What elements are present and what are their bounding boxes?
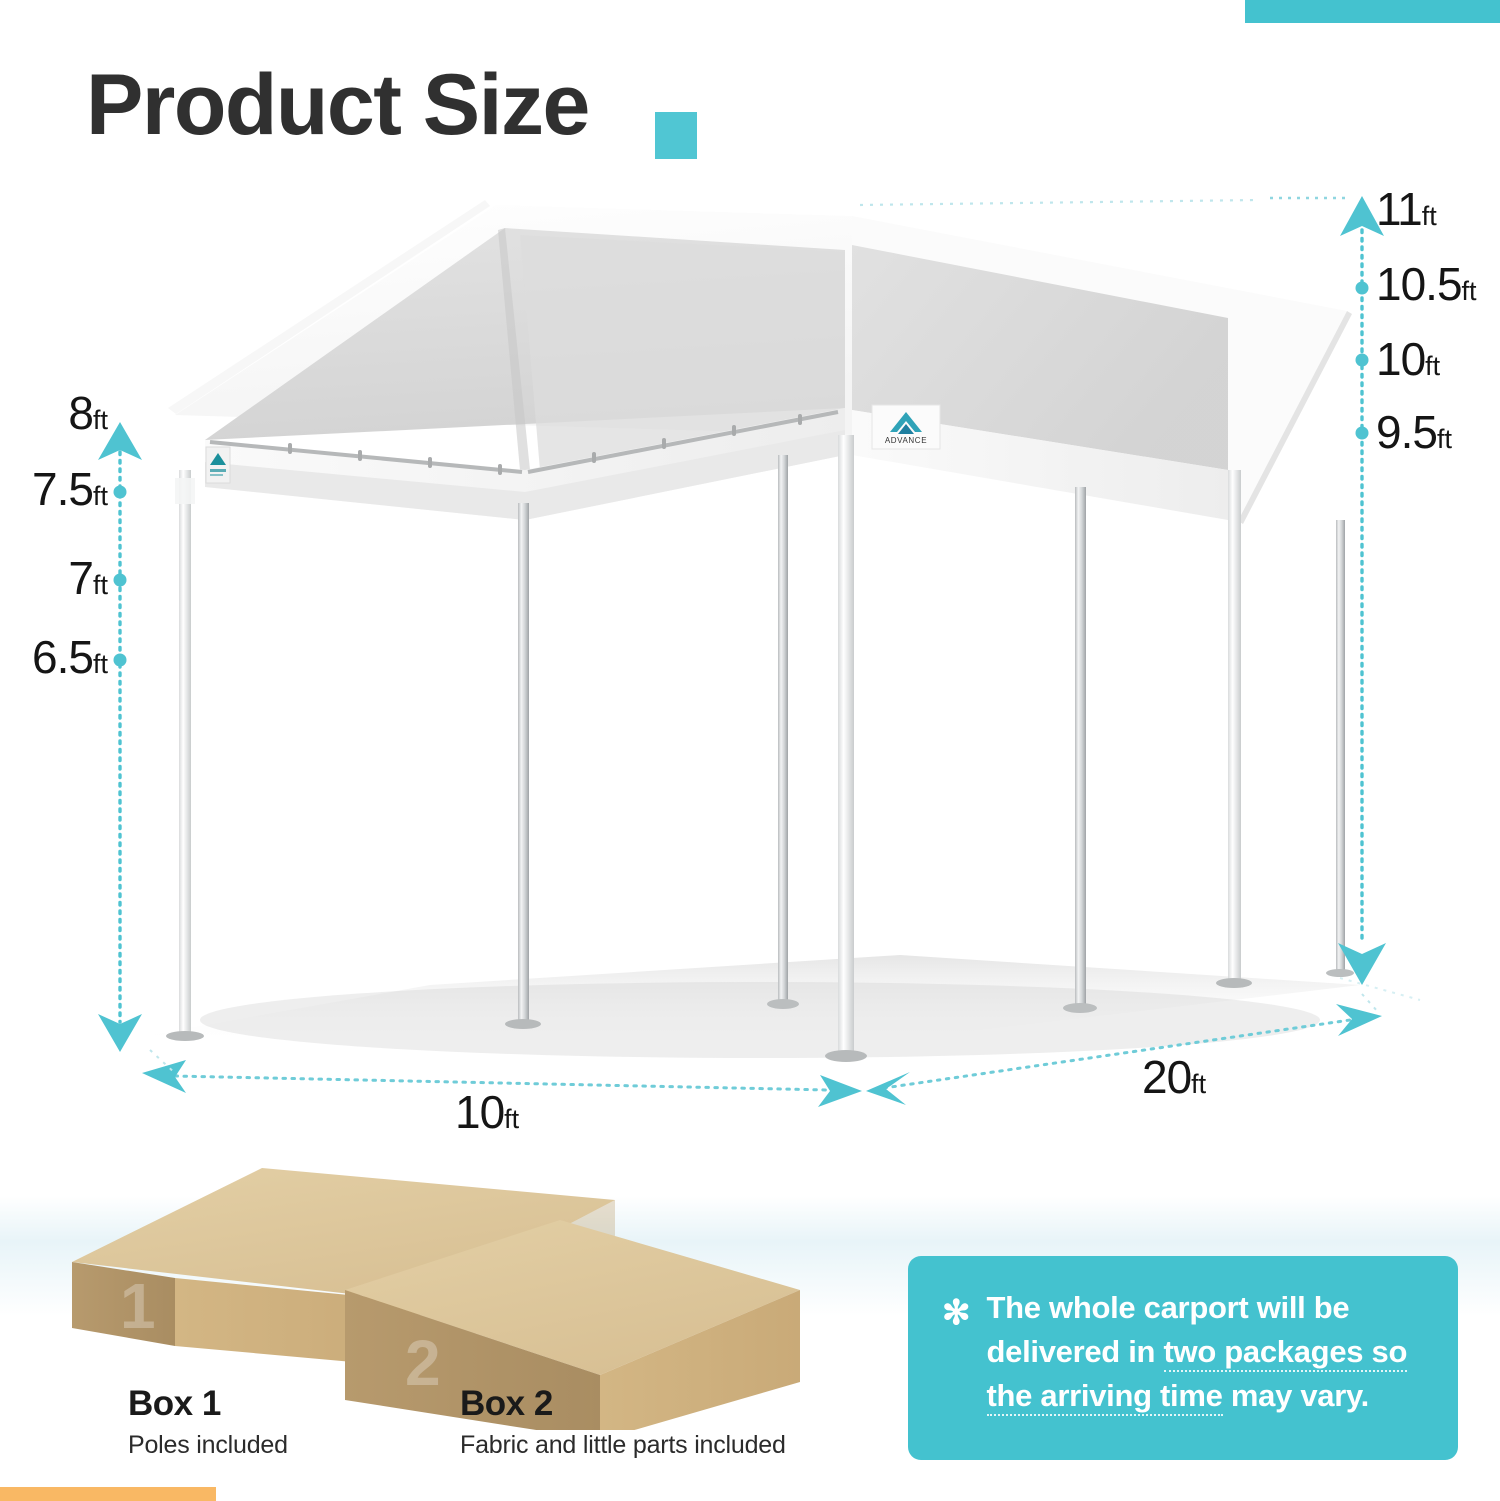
leg-front-left [166, 470, 204, 1041]
ground-shadow [150, 955, 1360, 1058]
callout-line-1: The whole carport will be [987, 1290, 1350, 1325]
arrow-left-width [142, 1060, 186, 1093]
extension-right-foot [1362, 994, 1378, 1012]
carport-illustration: ADVANCE [0, 0, 1500, 1180]
leg-mid-inner [767, 455, 799, 1009]
callout-line-3-underlined: the arriving time [987, 1378, 1223, 1416]
height-label-10ft: 10ft [1376, 332, 1440, 386]
box-1-subtitle: Poles included [128, 1432, 288, 1460]
leg-far-right [1216, 470, 1252, 988]
box-2-label: Box 2 Fabric and little parts included [460, 1385, 786, 1459]
extension-mid-foot [1340, 978, 1420, 1000]
connector-right-roof [860, 200, 1258, 205]
height-label-11ft: 11ft [1376, 182, 1437, 236]
asterisk-icon: ✻ [942, 1296, 971, 1330]
svg-text:ADVANCE: ADVANCE [885, 436, 927, 445]
leg-back-mid [1063, 487, 1097, 1013]
height-label-7ft: 7ft [0, 551, 108, 605]
box-2-subtitle: Fabric and little parts included [460, 1432, 786, 1460]
footer-accent-bar [0, 1487, 216, 1501]
callout-line-3-plain: may vary. [1223, 1378, 1369, 1413]
arrow-left-length [866, 1072, 910, 1105]
leg-mid-left [505, 503, 541, 1029]
height-label-6-5ft: 6.5ft [0, 630, 108, 684]
delivery-note-callout: ✻ The whole carport will be delivered in… [908, 1256, 1458, 1460]
length-label-20ft: 20ft [1142, 1050, 1206, 1104]
leg-rear-right [1326, 520, 1354, 977]
box-2-title: Box 2 [460, 1385, 786, 1424]
box-1-label: Box 1 Poles included [128, 1385, 288, 1459]
care-tag-icon [206, 447, 230, 483]
callout-line-2-plain: delivered in [987, 1334, 1164, 1369]
box-2-number: 2 [405, 1327, 441, 1399]
box-1-number: 1 [120, 1270, 156, 1342]
height-label-10-5ft: 10.5ft [1376, 257, 1477, 311]
height-label-9-5ft: 9.5ft [1376, 405, 1452, 459]
box-1-title: Box 1 [128, 1385, 288, 1424]
height-label-7-5ft: 7.5ft [0, 462, 108, 516]
arrow-down-left [98, 1014, 142, 1052]
delivery-note-text: The whole carport will be delivered in t… [987, 1286, 1408, 1418]
dimension-line-left [98, 422, 142, 1052]
brand-logo-label: ADVANCE [872, 405, 940, 449]
arrow-down-right [1338, 943, 1386, 985]
callout-line-2-underlined: two packages so [1164, 1334, 1408, 1372]
width-label-10ft: 10ft [455, 1085, 519, 1139]
height-label-8ft: 8ft [0, 386, 108, 440]
product-size-infographic: Product Size [0, 0, 1500, 1500]
